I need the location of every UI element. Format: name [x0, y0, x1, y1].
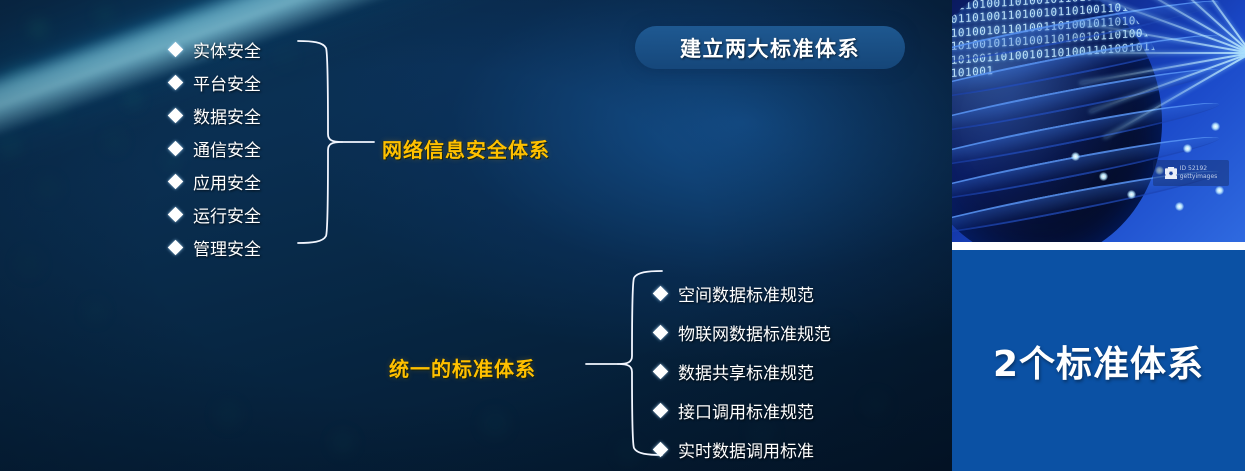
- diamond-icon: [168, 108, 184, 124]
- list-item-label: 实体安全: [193, 37, 261, 62]
- diamond-icon: [653, 442, 669, 458]
- list-item-label: 数据安全: [193, 103, 261, 128]
- security-item-list: 实体安全 平台安全 数据安全 通信安全 应用安全 运行安全 管理安全: [170, 33, 261, 264]
- list-item-label: 通信安全: [193, 136, 261, 161]
- diamond-icon: [168, 75, 184, 91]
- fiber-strand: [1075, 52, 1245, 54]
- list-item[interactable]: 应用安全: [170, 165, 261, 198]
- diamond-icon: [653, 403, 669, 419]
- page-title-pill: 建立两大标准体系: [635, 26, 905, 69]
- list-item[interactable]: 接口调用标准规范: [655, 391, 831, 430]
- list-item[interactable]: 平台安全: [170, 66, 261, 99]
- security-group-caption: 网络信息安全体系: [382, 134, 550, 163]
- list-item[interactable]: 空间数据标准规范: [655, 274, 831, 313]
- list-item[interactable]: 实体安全: [170, 33, 261, 66]
- list-item-label: 物联网数据标准规范: [678, 320, 831, 345]
- fiber-light-dot: [1211, 122, 1220, 131]
- standard-group-caption: 统一的标准体系: [389, 353, 536, 382]
- standards-count-label: 2个标准体系: [993, 335, 1204, 387]
- standard-item-list: 空间数据标准规范 物联网数据标准规范 数据共享标准规范 接口调用标准规范 实时数…: [655, 274, 831, 469]
- list-item[interactable]: 数据安全: [170, 99, 261, 132]
- list-item[interactable]: 实时数据调用标准: [655, 430, 831, 469]
- curly-brace-right-icon: [296, 38, 388, 248]
- list-item[interactable]: 通信安全: [170, 132, 261, 165]
- diamond-icon: [168, 42, 184, 58]
- fiber-strand: [1089, 52, 1245, 113]
- list-item-label: 数据共享标准规范: [678, 359, 814, 384]
- list-item-label: 应用安全: [193, 169, 261, 194]
- list-item-label: 空间数据标准规范: [678, 281, 814, 306]
- diamond-icon: [653, 286, 669, 302]
- list-item-label: 管理安全: [193, 235, 261, 260]
- curly-brace-left-icon: [572, 268, 664, 460]
- diamond-icon: [168, 240, 184, 256]
- watermark-brand: gettyimages: [1180, 173, 1218, 181]
- list-item[interactable]: 数据共享标准规范: [655, 352, 831, 391]
- fiber-light-dot: [1175, 202, 1184, 211]
- list-item[interactable]: 物联网数据标准规范: [655, 313, 831, 352]
- list-item-label: 接口调用标准规范: [678, 398, 814, 423]
- watermark-id: ID 52192: [1180, 165, 1218, 173]
- slide-canvas: 建立两大标准体系 实体安全 平台安全 数据安全 通信安全 应用安全 运行安全: [0, 0, 1245, 471]
- standards-count-badge: 2个标准体系: [952, 250, 1245, 471]
- fiber-light-dot: [1183, 144, 1192, 153]
- right-panel: 0110100110100101101001101001011010011010…: [952, 0, 1245, 471]
- diamond-icon: [168, 207, 184, 223]
- diamond-icon: [168, 141, 184, 157]
- watermark-text: ID 52192 gettyimages: [1180, 165, 1218, 181]
- page-title: 建立两大标准体系: [680, 33, 860, 63]
- fiber-light-dot: [1215, 186, 1224, 195]
- fiber-light-dot: [1127, 190, 1136, 199]
- fiber-optic-strands: [1065, 0, 1245, 242]
- getty-flower-icon: [1165, 167, 1177, 179]
- list-item-label: 实时数据调用标准: [678, 437, 814, 462]
- fiber-light-dot: [1099, 172, 1108, 181]
- list-item-label: 运行安全: [193, 202, 261, 227]
- network-globe-photo: 0110100110100101101001101001011010011010…: [952, 0, 1245, 242]
- list-item[interactable]: 管理安全: [170, 231, 261, 264]
- diamond-icon: [653, 364, 669, 380]
- list-item-label: 平台安全: [193, 70, 261, 95]
- fiber-light-dot: [1071, 152, 1080, 161]
- diamond-icon: [653, 325, 669, 341]
- list-item[interactable]: 运行安全: [170, 198, 261, 231]
- diamond-icon: [168, 174, 184, 190]
- getty-watermark: ID 52192 gettyimages: [1153, 160, 1229, 186]
